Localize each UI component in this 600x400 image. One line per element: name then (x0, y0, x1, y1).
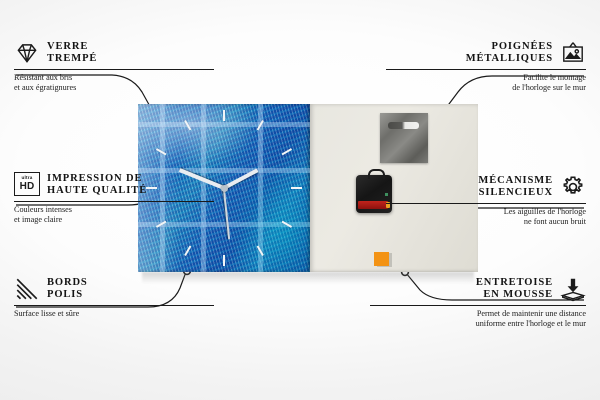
ultra-hd-icon: ultra HD (14, 172, 40, 198)
feature-description: Les aiguilles de l'horloge ne font aucun… (386, 207, 586, 227)
feature-rule (370, 305, 586, 306)
feature-title: IMPRESSION DE HAUTE QUALITÉ (47, 173, 147, 198)
feature-rule (386, 69, 586, 70)
feature-impression-haute-qualite: ultra HD IMPRESSION DE HAUTE QUALITÉ Cou… (14, 172, 214, 225)
feature-rule (386, 203, 586, 204)
arrow-down-plate-icon (560, 276, 586, 302)
feature-description: Surface lisse et sûre (14, 309, 214, 319)
feature-description: Résistant aux bris et aux égratignures (14, 73, 214, 93)
mechanism-hanger-loop (368, 169, 385, 179)
feature-rule (14, 201, 214, 202)
feature-verre-trempe: VERRE TREMPÉ Résistant aux bris et aux é… (14, 40, 214, 93)
feature-description: Permet de maintenir une distance uniform… (370, 309, 586, 329)
metal-handle-slot (388, 122, 419, 129)
ultra-hd-icon-main-text: HD (20, 182, 35, 192)
gear-icon (560, 174, 586, 200)
feature-description: Facilite le montage de l'horloge sur le … (386, 73, 586, 93)
diagonal-lines-icon (14, 276, 40, 302)
feature-description: Couleurs intenses et image claire (14, 205, 214, 225)
metal-handle (380, 113, 428, 163)
feature-title: VERRE TREMPÉ (47, 41, 97, 66)
battery (358, 201, 388, 209)
feature-poignees-metalliques: POIGNÉES MÉTALLIQUES Facilite le montage… (386, 40, 586, 93)
picture-frame-hanging-icon (560, 40, 586, 66)
infographic-stage: VERRE TREMPÉ Résistant aux bris et aux é… (0, 0, 600, 400)
feature-entretoise-en-mousse: ENTRETOISE EN MOUSSE Permet de maintenir… (370, 276, 586, 329)
foam-spacer (374, 252, 389, 266)
feature-rule (14, 305, 214, 306)
feature-title: POIGNÉES MÉTALLIQUES (466, 41, 553, 66)
feature-mecanisme-silencieux: MÉCANISME SILENCIEUX Les aiguilles de l'… (386, 174, 586, 227)
feature-title: ENTRETOISE EN MOUSSE (476, 277, 553, 302)
clock-hand-hub (221, 185, 228, 192)
feature-title: MÉCANISME SILENCIEUX (478, 175, 553, 200)
feature-rule (14, 69, 214, 70)
diamond-icon (14, 40, 40, 66)
feature-bords-polis: BORDS POLIS Surface lisse et sûre (14, 276, 214, 319)
feature-title: BORDS POLIS (47, 277, 88, 302)
